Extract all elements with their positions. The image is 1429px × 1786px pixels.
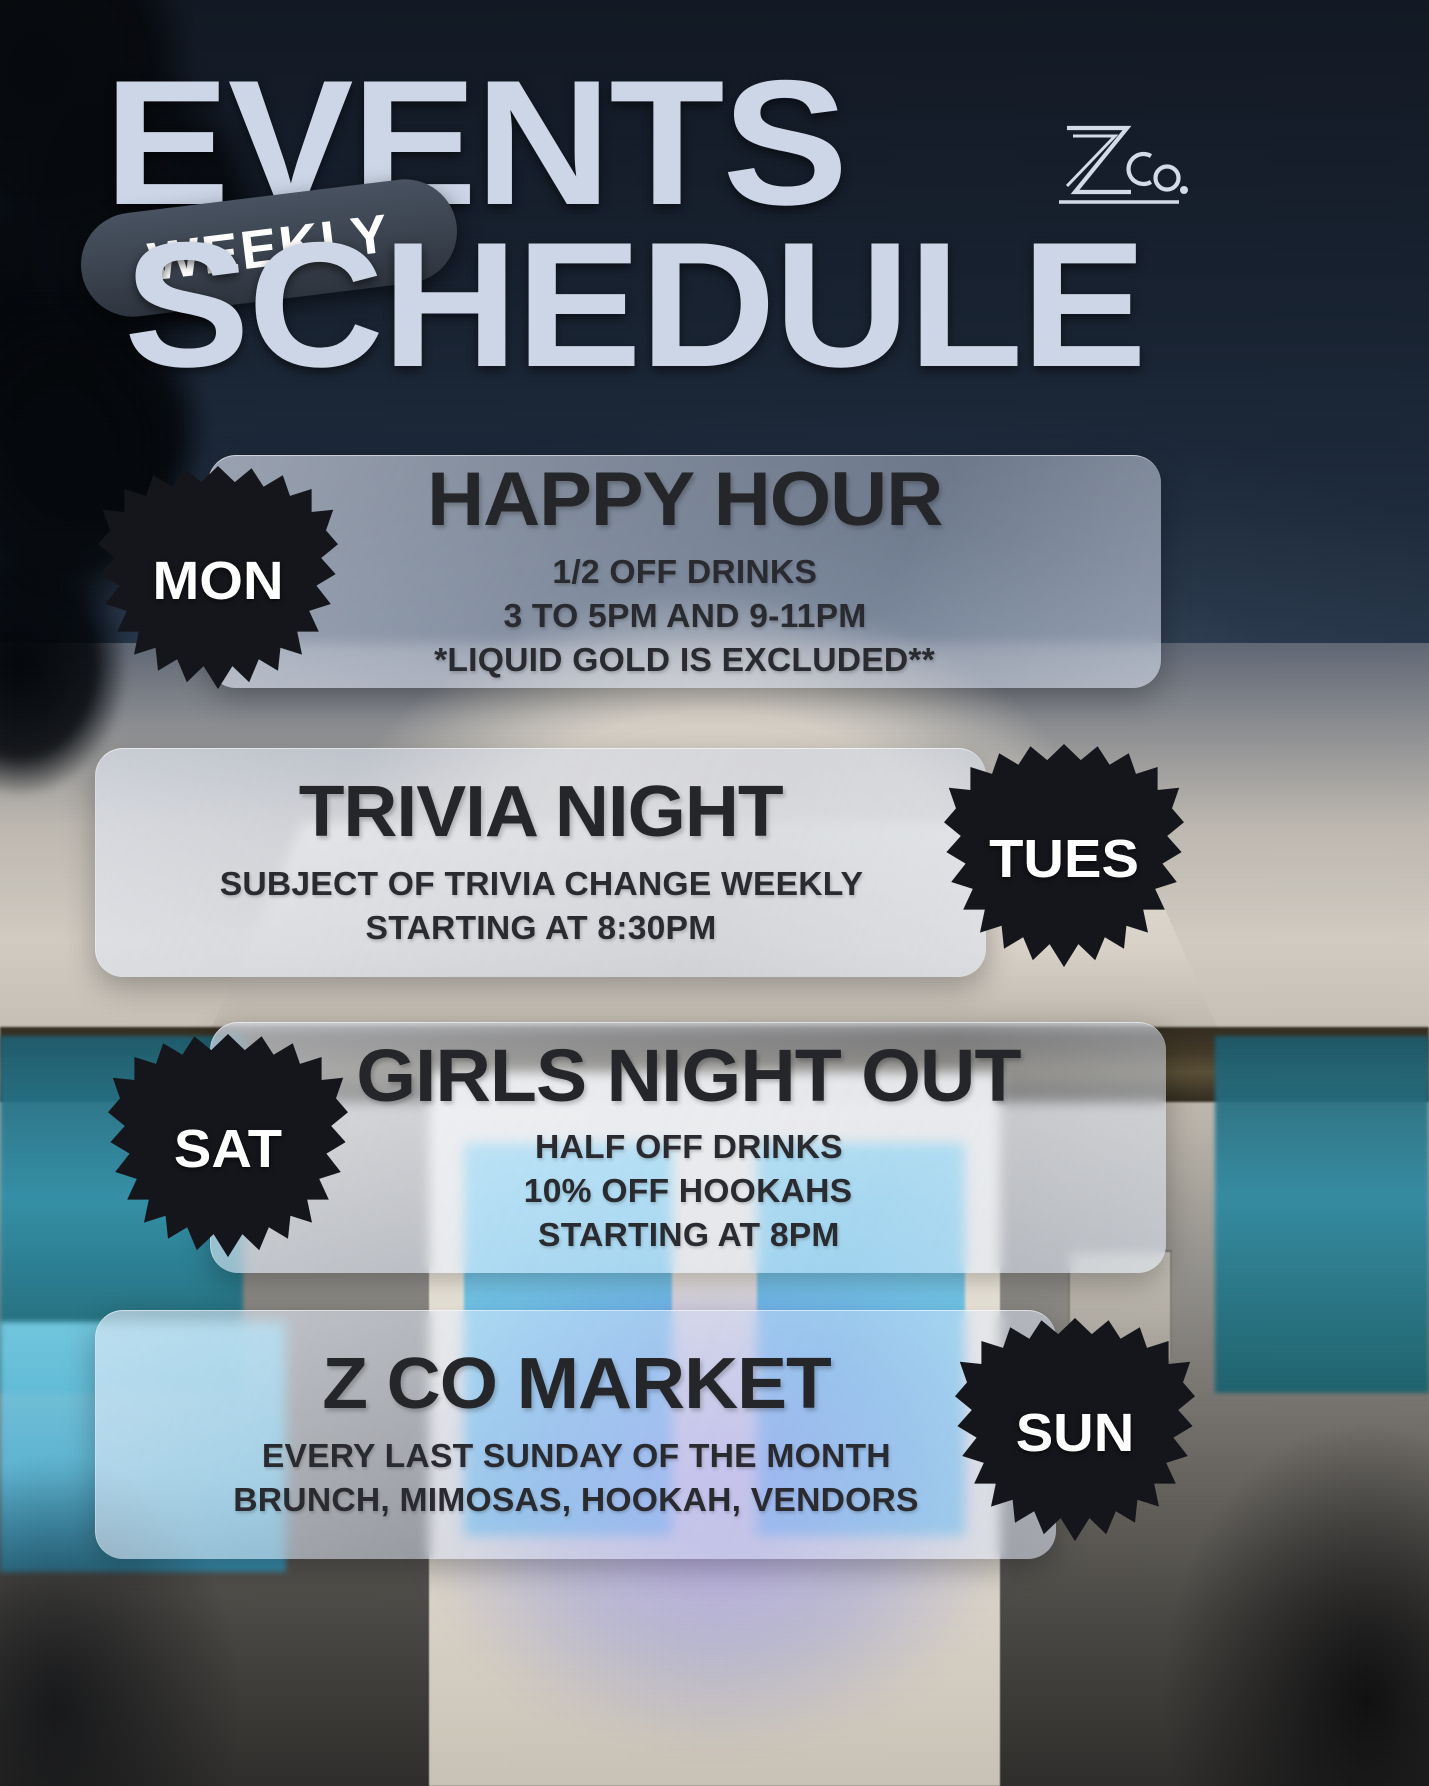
event-detail-sat-3: STARTING AT 8PM: [538, 1213, 840, 1257]
event-card-sun[interactable]: Z CO MARKET EVERY LAST SUNDAY OF THE MON…: [95, 1310, 1056, 1559]
day-badge-sun[interactable]: SUN: [955, 1318, 1195, 1548]
event-detail-sat-2: 10% OFF HOOKAHS: [524, 1169, 852, 1213]
event-title-sat: GIRLS NIGHT OUT: [356, 1039, 1020, 1113]
day-badge-mon[interactable]: MON: [98, 466, 338, 696]
day-badge-sat-label: SAT: [174, 1118, 282, 1180]
event-detail-tues-1: SUBJECT OF TRIVIA CHANGE WEEKLY: [219, 862, 862, 906]
event-detail-sun-1: EVERY LAST SUNDAY OF THE MONTH: [262, 1434, 891, 1478]
event-card-sat[interactable]: GIRLS NIGHT OUT HALF OFF DRINKS 10% OFF …: [210, 1022, 1166, 1273]
day-badge-sat[interactable]: SAT: [108, 1034, 348, 1264]
event-detail-sat-1: HALF OFF DRINKS: [535, 1125, 843, 1169]
event-detail-mon-2: 3 TO 5PM AND 9-11PM: [503, 594, 866, 638]
title-schedule: SCHEDULE: [124, 232, 1145, 378]
event-detail-tues-2: STARTING AT 8:30PM: [366, 906, 717, 950]
z-co-logo: [1053, 118, 1193, 210]
day-badge-tues-label: TUES: [989, 828, 1139, 890]
events-schedule-poster: EVENTS WEEKLY SCHEDULE: [0, 0, 1429, 1786]
event-card-mon[interactable]: HAPPY HOUR 1/2 OFF DRINKS 3 TO 5PM AND 9…: [208, 455, 1161, 688]
day-badge-tues[interactable]: TUES: [944, 744, 1184, 974]
event-title-mon: HAPPY HOUR: [427, 462, 942, 538]
day-badge-mon-label: MON: [152, 550, 283, 612]
poster-header: EVENTS WEEKLY SCHEDULE: [0, 0, 1429, 440]
event-title-sun: Z CO MARKET: [322, 1348, 831, 1420]
title-events: EVENTS: [104, 70, 846, 216]
event-title-tues: TRIVIA NIGHT: [299, 776, 783, 848]
event-detail-sun-2: BRUNCH, MIMOSAS, HOOKAH, VENDORS: [233, 1478, 918, 1522]
event-card-tues[interactable]: TRIVIA NIGHT SUBJECT OF TRIVIA CHANGE WE…: [95, 748, 986, 977]
day-badge-sun-label: SUN: [1016, 1402, 1135, 1464]
event-detail-mon-1: 1/2 OFF DRINKS: [553, 550, 818, 594]
event-detail-mon-3: *LIQUID GOLD IS EXCLUDED**: [435, 638, 936, 682]
